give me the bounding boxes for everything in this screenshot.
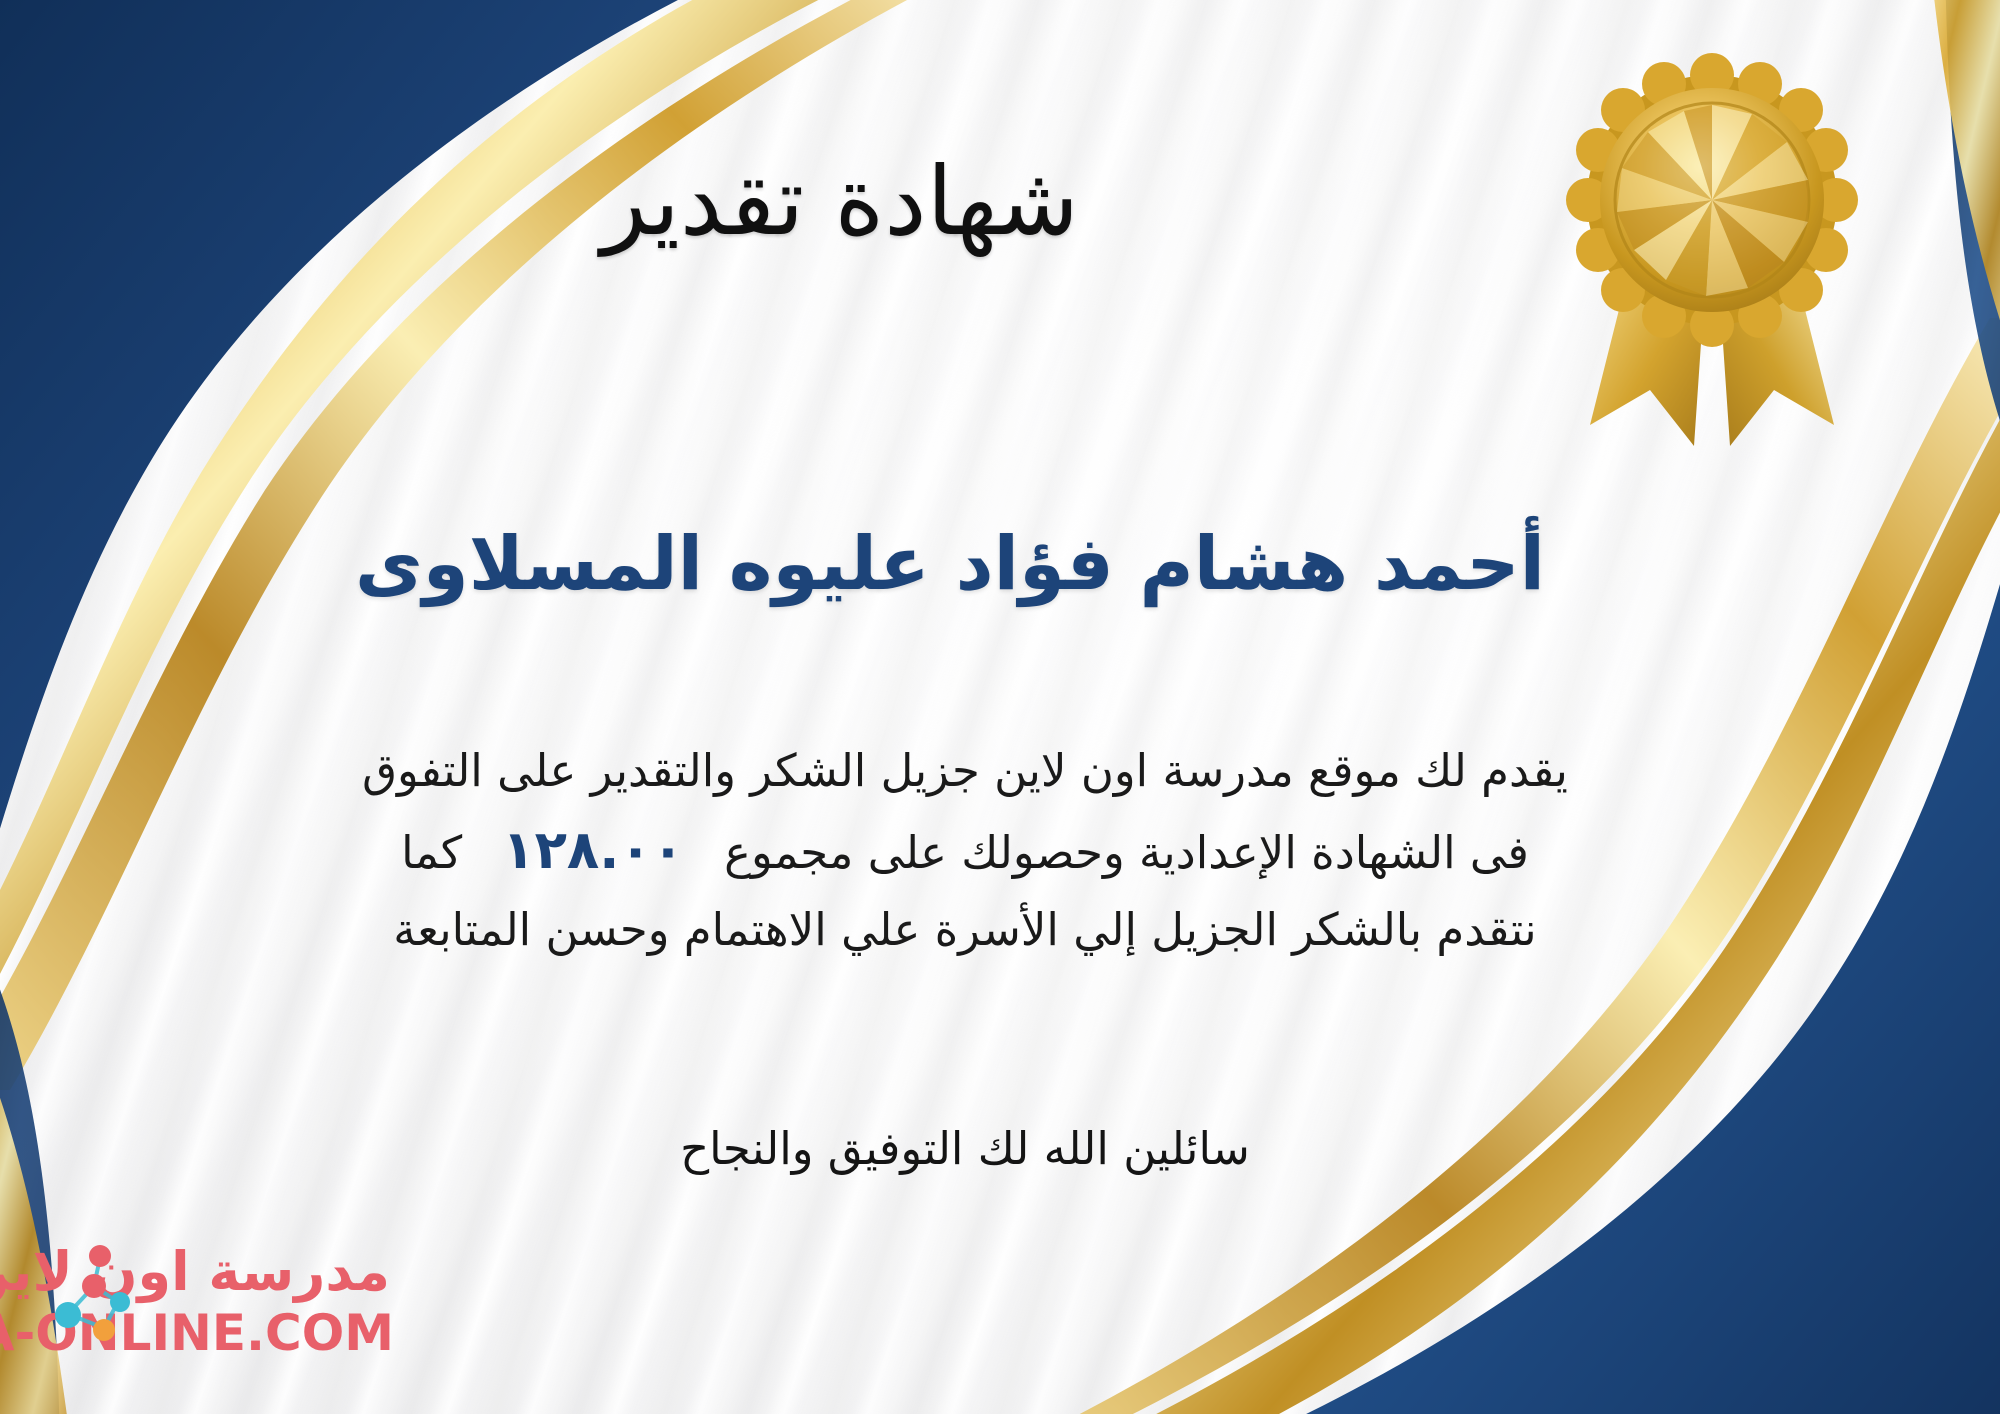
certificate-content: شهادة تقدير أحمد هشام فؤاد عليوه المسلاو…	[60, 0, 1890, 1414]
site-logo[interactable]: مدرسة اون لاين MADRSA-ONLINE.COM	[20, 1236, 490, 1386]
certificate-canvas: شهادة تقدير أحمد هشام فؤاد عليوه المسلاو…	[0, 0, 2000, 1414]
certificate-body: يقدم لك موقع مدرسة اون لاين جزيل الشكر و…	[70, 735, 1860, 967]
body-line-2: فى الشهادة الإعدادية وحصولك على مجموع١٢٨…	[70, 808, 1860, 894]
body-line-1: يقدم لك موقع مدرسة اون لاين جزيل الشكر و…	[70, 735, 1860, 808]
body-line-3: نتقدم بالشكر الجزيل إلي الأسرة علي الاهت…	[70, 894, 1860, 967]
body-line-2-suffix: كما	[401, 826, 462, 879]
network-nodes-logo-icon	[42, 1242, 134, 1352]
score-value: ١٢٨.٠٠	[462, 820, 724, 881]
closing-line: سائلين الله لك التوفيق والنجاح	[70, 1115, 1860, 1183]
body-line-2-prefix: فى الشهادة الإعدادية وحصولك على مجموع	[724, 826, 1529, 879]
certificate-heading: شهادة تقدير	[60, 148, 1620, 257]
student-name: أحمد هشام فؤاد عليوه المسلاوى	[100, 520, 1800, 609]
